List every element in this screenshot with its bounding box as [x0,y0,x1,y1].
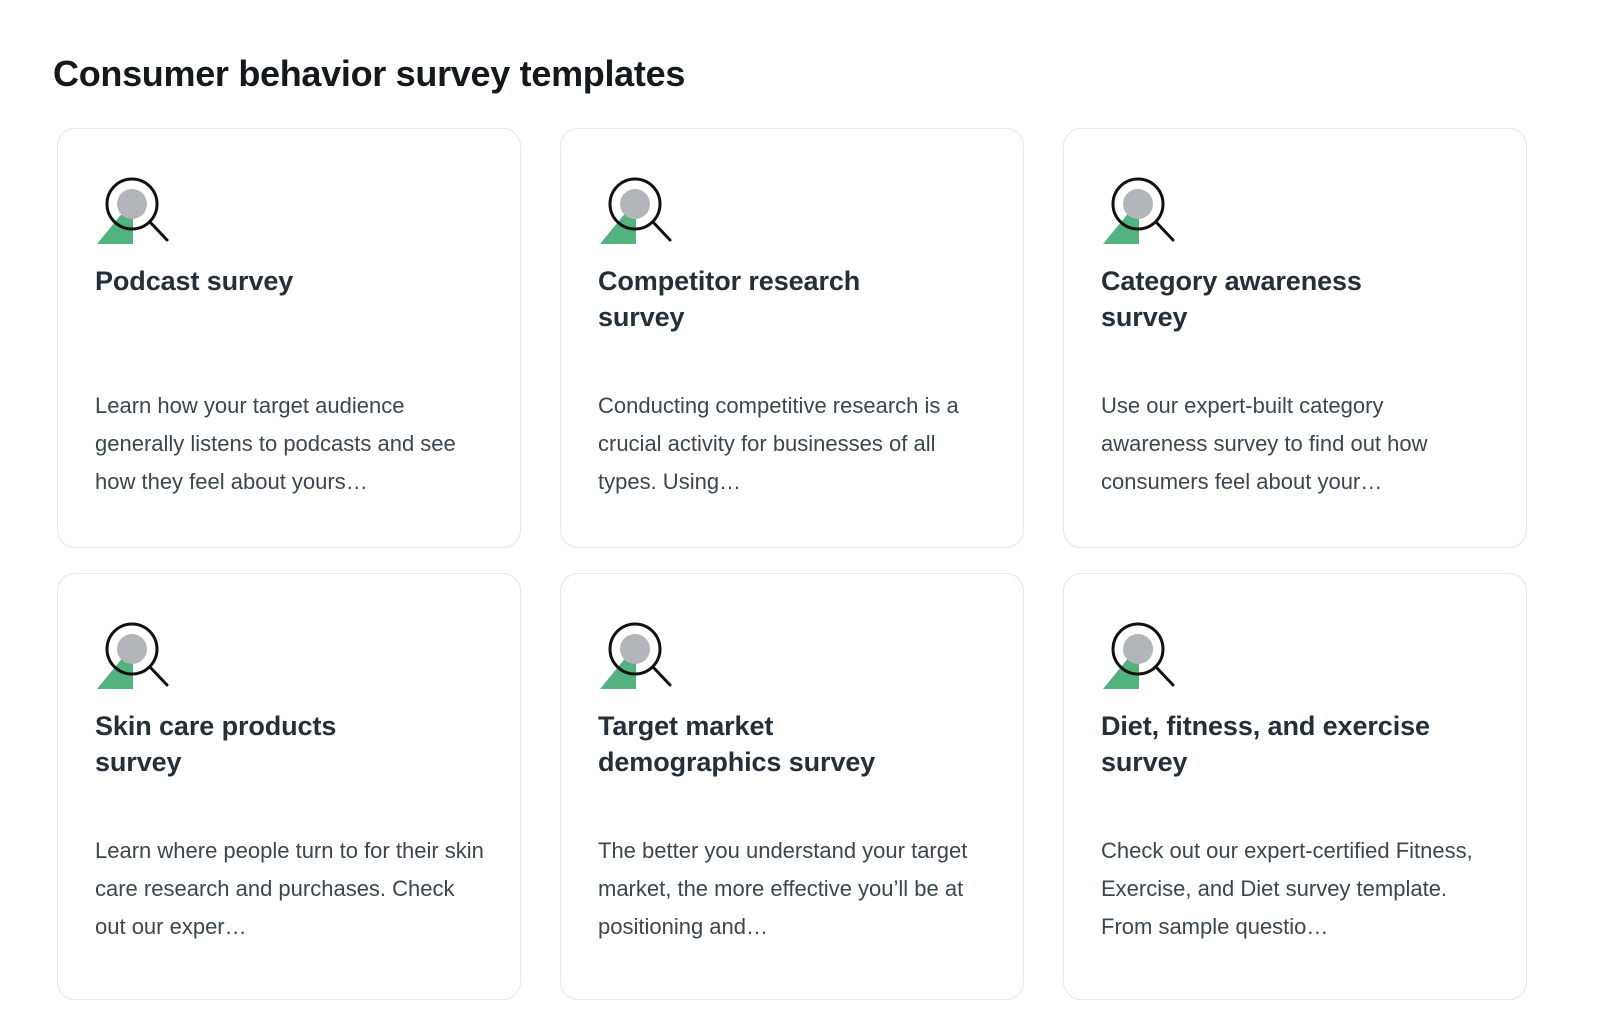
template-card-category-awareness-survey[interactable]: Category awareness survey Use our expert… [1063,128,1527,548]
magnifier-icon [1101,176,1179,246]
magnifier-icon [598,621,676,691]
magnifier-icon [1101,621,1179,691]
card-description: The better you understand your target ma… [598,832,990,945]
card-description: Check out our expert-certified Fitness, … [1101,832,1493,945]
template-card-grid: Podcast survey Learn how your target aud… [57,128,1562,1000]
card-description: Learn how your target audience generally… [95,387,487,500]
page-title: Consumer behavior survey templates [53,52,685,95]
template-card-skin-care-products-survey[interactable]: Skin care products survey Learn where pe… [57,573,521,1000]
card-title: Target market demographics survey [598,709,928,781]
card-title: Competitor research survey [598,264,928,336]
card-title: Diet, fitness, and exercise survey [1101,709,1431,781]
card-title: Category awareness survey [1101,264,1431,336]
magnifier-icon [95,621,173,691]
magnifier-icon [95,176,173,246]
template-card-competitor-research-survey[interactable]: Competitor research survey Conducting co… [560,128,1024,548]
template-card-diet-fitness-exercise-survey[interactable]: Diet, fitness, and exercise survey Check… [1063,573,1527,1000]
card-title: Podcast survey [95,264,425,300]
magnifier-icon [598,176,676,246]
templates-page: Consumer behavior survey templates Podca… [0,0,1600,1034]
template-card-target-market-demographics-survey[interactable]: Target market demographics survey The be… [560,573,1024,1000]
template-card-podcast-survey[interactable]: Podcast survey Learn how your target aud… [57,128,521,548]
card-title: Skin care products survey [95,709,425,781]
card-description: Learn where people turn to for their ski… [95,832,487,945]
card-description: Conducting competitive research is a cru… [598,387,990,500]
card-description: Use our expert-built category awareness … [1101,387,1493,500]
